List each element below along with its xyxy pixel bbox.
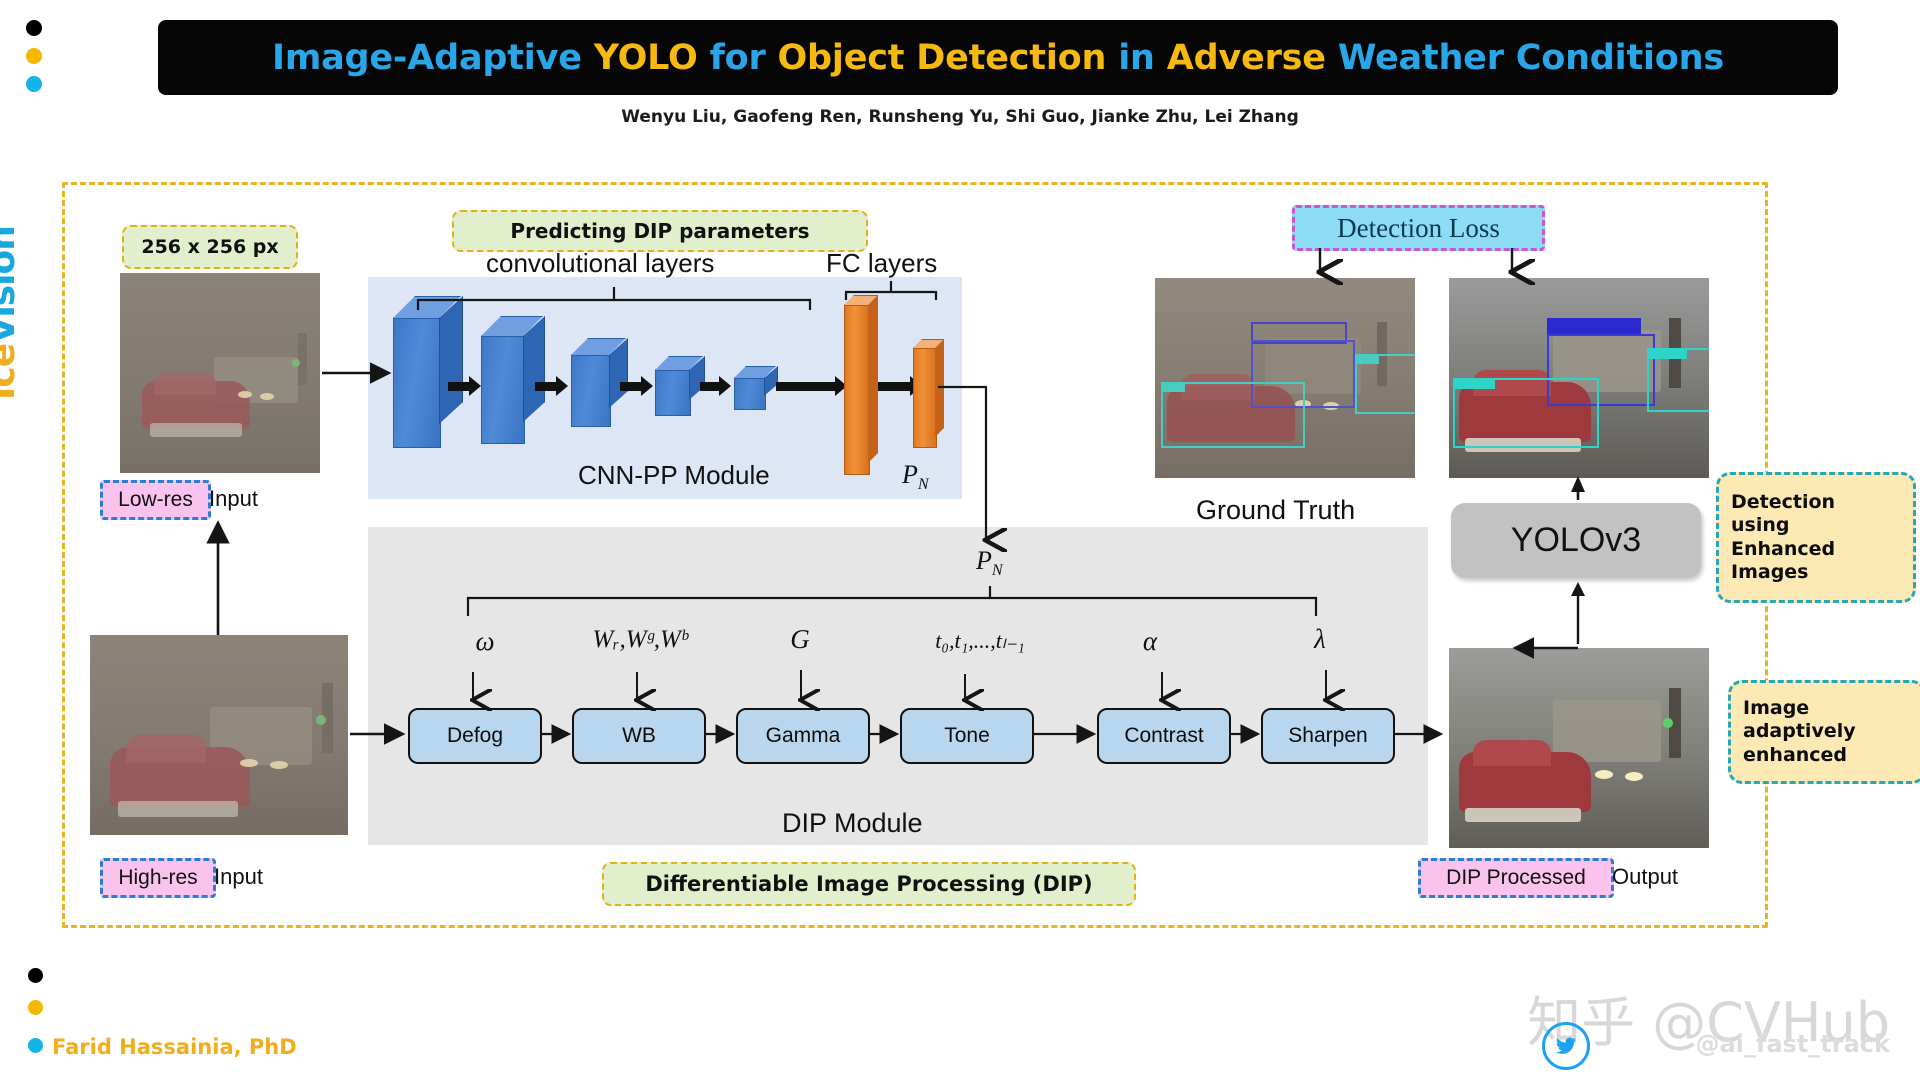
detection-using-chip: Detection using Enhanced Images <box>1716 472 1916 603</box>
ground-truth-label: Ground Truth <box>1196 495 1355 526</box>
dip-processed-tag: DIP Processed <box>1418 858 1614 898</box>
image-adaptive-chip-label: Image adaptively enhanced <box>1743 697 1856 767</box>
dip-processed-suffix: Output <box>1612 864 1678 890</box>
decor-dot-black-top <box>26 20 42 36</box>
dip-step-gamma-label: Gamma <box>766 724 841 748</box>
page-title: Image-Adaptive YOLO for Object Detection… <box>272 38 1724 78</box>
fc-arrow-1 <box>873 382 911 391</box>
fc-bar-2 <box>913 348 935 446</box>
yolov3-label: YOLOv3 <box>1511 521 1641 560</box>
decor-dot-black-bottom <box>28 968 43 983</box>
dip-step-wb[interactable]: WB <box>572 708 706 764</box>
image-adaptive-chip: Image adaptively enhanced <box>1728 680 1920 784</box>
fc-layers-label: FC layers <box>826 248 937 279</box>
conv-arrow-1 <box>448 382 470 391</box>
conv-arrow-5 <box>776 382 836 391</box>
decor-dot-gold-bottom <box>28 1000 43 1015</box>
pn-cnn-sub: N <box>918 476 929 493</box>
dip-param-3: t₀,t₁,...,tₗ₋₁ <box>890 628 1070 654</box>
brand-ice: Ice <box>0 344 23 400</box>
high-res-suffix: Input <box>214 864 263 890</box>
convolutional-layers-label: convolutional layers <box>486 248 714 279</box>
conv-arrow-4 <box>700 382 720 391</box>
dip-processed-output-image <box>1449 648 1709 848</box>
detection-using-chip-label: Detection using Enhanced Images <box>1731 491 1835 584</box>
predicting-dip-chip: Predicting DIP parameters <box>452 210 868 252</box>
title-seg-2: YOLO <box>594 38 710 78</box>
dip-step-defog-label: Defog <box>447 724 503 748</box>
author-list: Wenyu Liu, Gaofeng Ren, Runsheng Yu, Shi… <box>0 107 1920 127</box>
decor-dot-cyan-bottom <box>28 1038 43 1053</box>
conv-cube-3 <box>571 355 609 425</box>
decor-dot-cyan-top <box>26 76 42 92</box>
yolov3-box[interactable]: YOLOv3 <box>1451 503 1701 578</box>
high-res-input-image <box>90 635 348 835</box>
dip-chip-label: Differentiable Image Processing (DIP) <box>645 872 1092 896</box>
title-seg-1: Image-Adaptive <box>272 38 594 78</box>
resolution-chip-label: 256 x 256 px <box>141 236 278 258</box>
detection-loss-chip: Detection Loss <box>1292 205 1545 251</box>
dip-step-wb-label: WB <box>622 724 656 748</box>
dip-step-contrast[interactable]: Contrast <box>1097 708 1231 764</box>
poster-root: Image-Adaptive YOLO for Object Detection… <box>0 0 1920 1080</box>
conv-arrow-2 <box>535 382 557 391</box>
dip-chip: Differentiable Image Processing (DIP) <box>602 862 1136 906</box>
pn-cnn-main: P <box>902 460 918 489</box>
dip-step-gamma[interactable]: Gamma <box>736 708 870 764</box>
conv-cube-1 <box>393 318 439 446</box>
low-res-suffix: Input <box>209 486 258 512</box>
dip-panel <box>368 527 1428 845</box>
title-seg-5: in <box>1118 38 1167 78</box>
decor-dot-gold-top <box>26 48 42 64</box>
dip-step-sharpen-label: Sharpen <box>1288 724 1367 748</box>
brand-vision: Vision <box>0 226 23 344</box>
low-res-tag-label: Low-res <box>118 488 193 512</box>
resolution-chip: 256 x 256 px <box>122 225 298 269</box>
conv-cube-4 <box>655 370 689 414</box>
dip-step-defog[interactable]: Defog <box>408 708 542 764</box>
title-seg-6: Adverse <box>1167 38 1338 78</box>
conv-arrow-3 <box>620 382 642 391</box>
conv-cube-5 <box>734 378 764 408</box>
pn-dip-main: P <box>976 546 992 575</box>
high-res-tag-label: High-res <box>118 866 197 890</box>
dip-step-tone-label: Tone <box>944 724 990 748</box>
low-res-tag: Low-res <box>100 480 211 520</box>
dip-step-sharpen[interactable]: Sharpen <box>1261 708 1395 764</box>
fc-bar-1 <box>844 305 868 473</box>
cnn-pp-module-label: CNN-PP Module <box>578 460 770 491</box>
detection-result-image <box>1449 278 1709 478</box>
dip-param-0: ω <box>455 626 515 657</box>
twitter-icon <box>1542 1022 1590 1070</box>
dip-param-4: α <box>1130 626 1170 657</box>
detection-loss-chip-label: Detection Loss <box>1337 213 1500 244</box>
dip-param-5: λ <box>1300 624 1340 655</box>
watermark-handle: @ai_fast_track <box>1695 1030 1890 1058</box>
author-credit: Farid Hassainia, PhD <box>52 1035 297 1059</box>
low-res-input-image <box>120 273 320 473</box>
dip-param-1: Wᵣ,Wᵍ,Wᵇ <box>565 626 715 654</box>
pn-label-dip: PN <box>976 546 1003 580</box>
dip-param-2: G <box>780 624 820 655</box>
dip-step-tone[interactable]: Tone <box>900 708 1034 764</box>
icevision-brand: IceVision <box>0 226 23 400</box>
title-seg-4: Object Detection <box>778 38 1119 78</box>
pn-label-cnn: PN <box>902 460 929 494</box>
conv-cube-2 <box>481 336 523 442</box>
predicting-dip-chip-label: Predicting DIP parameters <box>510 219 809 243</box>
title-seg-3: for <box>710 38 778 78</box>
dip-module-label: DIP Module <box>782 808 923 839</box>
title-bar: Image-Adaptive YOLO for Object Detection… <box>158 20 1838 95</box>
title-seg-7: Weather Conditions <box>1338 38 1724 78</box>
pn-dip-sub: N <box>992 562 1003 579</box>
high-res-tag: High-res <box>100 858 216 898</box>
ground-truth-image <box>1155 278 1415 478</box>
dip-step-contrast-label: Contrast <box>1124 724 1203 748</box>
dip-processed-tag-label: DIP Processed <box>1446 866 1586 890</box>
